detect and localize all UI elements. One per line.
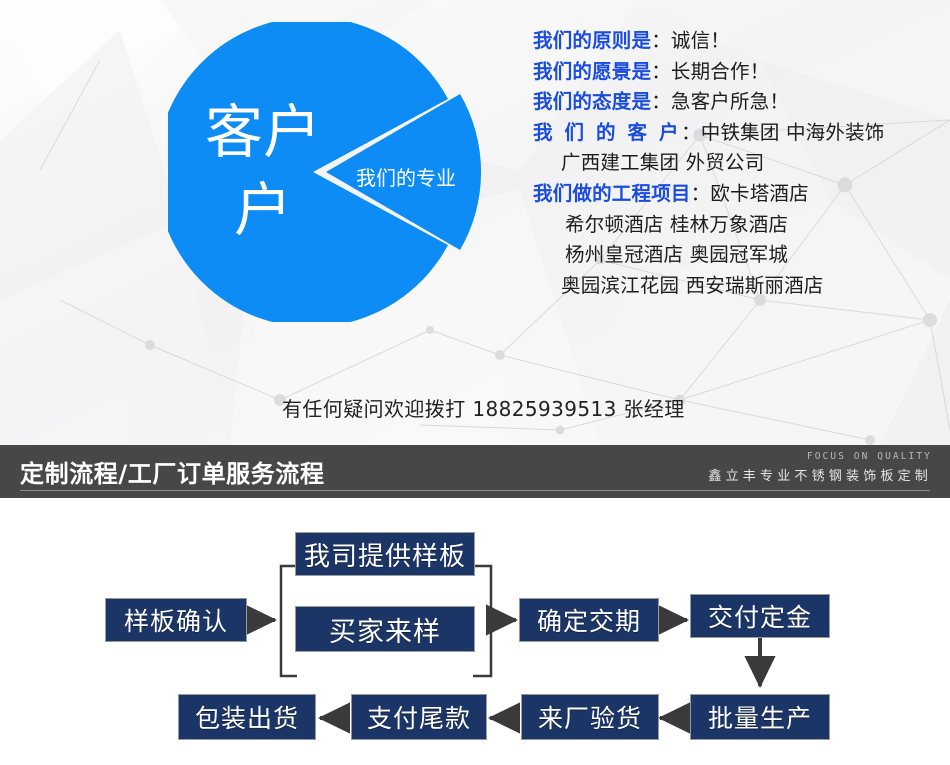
banner-subtitle-group: FOCUS ON QUALITY 鑫立丰专业不锈钢装饰板定制: [708, 451, 932, 484]
pie-main-label-line1: 客户: [205, 98, 321, 166]
info-heading: 我们的愿景是: [533, 60, 651, 83]
step-package-shipment[interactable]: 包装出货: [178, 694, 316, 740]
order-process-flowchart: 样板确认 我司提供样板 买家来样 确定交期 交付定金 批量生产 来厂验货 支付尾…: [0, 498, 950, 765]
customer-pie-chart: 客户 户 我们的专业: [168, 22, 508, 322]
step-sample-confirm[interactable]: 样板确认: [105, 598, 247, 642]
info-line-projects: 我们做的工程项目：欧卡塔酒店: [533, 179, 945, 210]
info-sep: ：: [651, 29, 671, 52]
step-confirm-delivery-date[interactable]: 确定交期: [519, 598, 659, 642]
banner-subtitle-en: FOCUS ON QUALITY: [708, 451, 932, 462]
info-sep: ：: [691, 182, 711, 205]
info-heading: 我们的原则是: [533, 29, 651, 52]
info-value: 广西建工集团 外贸公司: [561, 151, 764, 174]
step-mass-production[interactable]: 批量生产: [690, 694, 830, 740]
hero-section: 客户 户 我们的专业 我们的原则是：诚信！ 我们的愿景是：长期合作！ 我们的态度…: [0, 0, 950, 445]
info-line-principle: 我们的原则是：诚信！: [533, 26, 945, 57]
section-banner-title: 定制流程/工厂订单服务流程: [20, 454, 325, 489]
info-value: 欧卡塔酒店: [710, 182, 809, 205]
info-heading: 我们做的工程项目: [533, 182, 691, 205]
info-line-clients-cont: 广西建工集团 外贸公司: [533, 148, 945, 179]
step-buyer-sample[interactable]: 买家来样: [295, 606, 475, 652]
promo-page: 客户 户 我们的专业 我们的原则是：诚信！ 我们的愿景是：长期合作！ 我们的态度…: [0, 0, 950, 765]
info-line-projects-cont-3: 奥园滨江花园 西安瑞斯丽酒店: [533, 271, 945, 302]
info-line-vision: 我们的愿景是：长期合作！: [533, 57, 945, 88]
step-factory-inspection[interactable]: 来厂验货: [521, 694, 659, 740]
info-value: 急客户所急！: [671, 90, 789, 113]
banner-subtitle-cn: 鑫立丰专业不锈钢装饰板定制: [708, 465, 932, 484]
info-sep: ：: [651, 90, 671, 113]
info-sep: ：: [681, 121, 701, 144]
info-heading: 我们的态度是: [533, 90, 651, 113]
pie-exploded-label: 我们的专业: [356, 166, 456, 190]
info-line-attitude: 我们的态度是：急客户所急！: [533, 87, 945, 118]
info-sep: ：: [651, 60, 671, 83]
info-value: 中铁集团 中海外装饰: [701, 121, 885, 144]
info-value: 杨州皇冠酒店 奥园冠军城: [565, 243, 788, 266]
step-pay-deposit[interactable]: 交付定金: [690, 594, 830, 638]
info-value: 希尔顿酒店 桂林万象酒店: [565, 213, 788, 236]
info-heading: 我 们 的 客 户: [533, 121, 681, 144]
pie-main-label-line2: 户: [234, 176, 292, 244]
contact-phone-line: 有任何疑问欢迎拨打 18825939513 张经理: [282, 393, 685, 422]
company-info-list: 我们的原则是：诚信！ 我们的愿景是：长期合作！ 我们的态度是：急客户所急！ 我 …: [533, 26, 945, 301]
section-banner: 定制流程/工厂订单服务流程 FOCUS ON QUALITY 鑫立丰专业不锈钢装…: [0, 445, 950, 498]
info-line-projects-cont-1: 希尔顿酒店 桂林万象酒店: [533, 210, 945, 241]
info-line-projects-cont-2: 杨州皇冠酒店 奥园冠军城: [533, 240, 945, 271]
banner-divider: [20, 490, 930, 491]
info-value: 长期合作！: [671, 60, 770, 83]
pie-chart-graphic: 客户 户 我们的专业: [168, 22, 508, 322]
step-we-provide-sample[interactable]: 我司提供样板: [295, 532, 475, 576]
info-value: 诚信！: [671, 29, 730, 52]
info-value: 奥园滨江花园 西安瑞斯丽酒店: [561, 274, 824, 297]
info-line-clients: 我 们 的 客 户：中铁集团 中海外装饰: [533, 118, 945, 149]
step-pay-balance[interactable]: 支付尾款: [351, 694, 487, 740]
